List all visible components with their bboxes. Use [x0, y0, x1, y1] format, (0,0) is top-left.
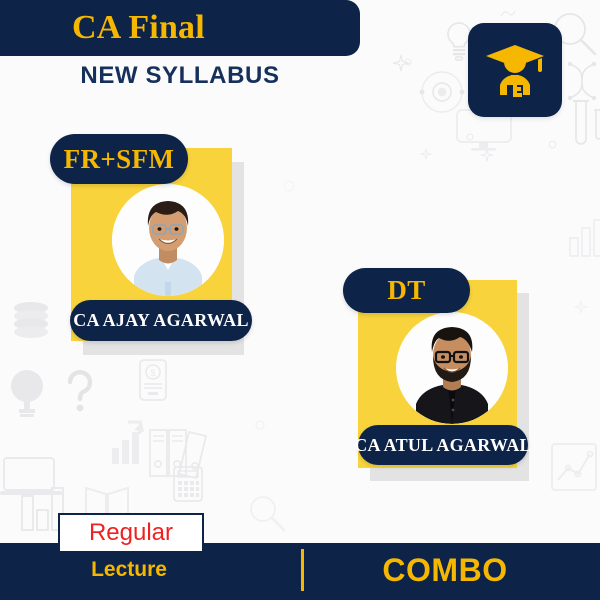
sparkle-icon — [420, 148, 432, 160]
sparkle-icon — [404, 58, 412, 66]
graduation-cap-student-icon — [482, 37, 548, 103]
sparkle-icon — [283, 180, 295, 192]
faculty-name: CA ATUL AGARWAL — [354, 435, 532, 456]
calculator-icon — [172, 465, 204, 503]
brand-logo-badge — [468, 23, 562, 117]
folders-icon — [148, 420, 212, 482]
lightbulb-icon — [5, 366, 49, 420]
svg-text:$: $ — [150, 368, 155, 378]
regular-label: Regular — [89, 521, 173, 545]
faculty-name-badge: CA ATUL AGARWAL — [358, 425, 528, 465]
mobile-payment-icon: $ — [138, 358, 168, 402]
combo-label: COMBO — [330, 552, 560, 589]
faculty-card[interactable]: DT CA ATUL AGARWAL — [358, 280, 558, 480]
sparkle-icon — [548, 140, 557, 149]
faculty-name: CA AJAY AGARWAL — [73, 310, 249, 331]
header-banner: CA Final — [0, 0, 360, 56]
sparkle-icon — [500, 8, 516, 18]
faculty-name-badge: CA AJAY AGARWAL — [70, 300, 252, 341]
test-tube-icon — [568, 98, 600, 154]
course-poster: $ — [0, 0, 600, 600]
subject-label: FR+SFM — [64, 144, 175, 175]
subtitle-new-syllabus: NEW SYLLABUS — [0, 62, 360, 90]
page-title: CA Final — [72, 11, 205, 45]
growth-arrow-icon — [110, 420, 150, 466]
subject-label: DT — [387, 275, 425, 306]
sparkle-icon — [392, 54, 410, 72]
regular-badge: Regular — [58, 513, 204, 553]
subject-badge: FR+SFM — [50, 134, 188, 184]
sparkle-icon — [574, 300, 588, 314]
laptop-icon — [0, 455, 64, 499]
avatar — [112, 184, 224, 296]
atom-icon — [418, 68, 466, 116]
question-mark-icon — [62, 368, 98, 416]
coins-icon — [10, 300, 52, 342]
atom-icon — [560, 60, 600, 120]
sparkle-icon — [255, 420, 265, 430]
faculty-card[interactable]: FR+SFM CA AJAY AGARWAL — [71, 148, 271, 348]
footer-divider — [301, 549, 304, 591]
sparkle-icon — [466, 133, 474, 141]
bar-chart-icon — [566, 216, 600, 260]
avatar — [396, 312, 508, 424]
subject-badge: DT — [343, 268, 470, 313]
magnifier-icon — [246, 492, 288, 534]
lecture-label: Lecture — [58, 558, 200, 582]
sparkle-icon — [480, 148, 494, 162]
